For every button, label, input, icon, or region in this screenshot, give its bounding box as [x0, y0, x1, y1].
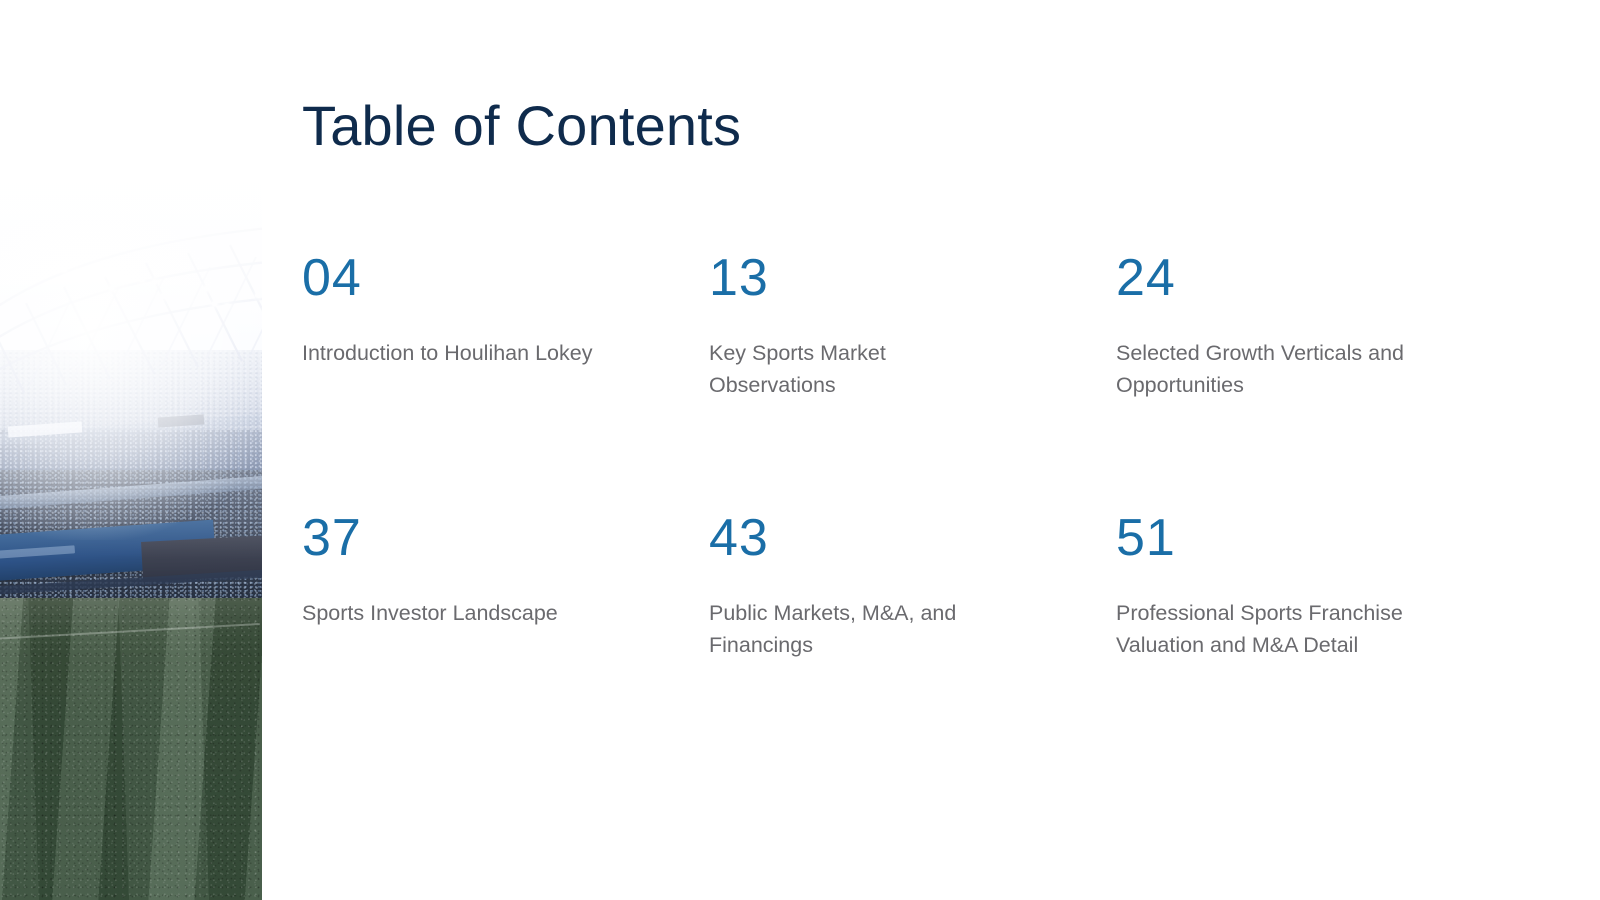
- stadium-photo-strip: [0, 0, 262, 900]
- toc-number: 43: [709, 512, 1116, 564]
- toc-label: Introduction to Houlihan Lokey: [302, 338, 602, 370]
- toc-label: Sports Investor Landscape: [302, 598, 602, 630]
- toc-entry-43[interactable]: 43 Public Markets, M&A, and Financings: [709, 512, 1116, 772]
- toc-entry-51[interactable]: 51 Professional Sports Franchise Valuati…: [1116, 512, 1523, 772]
- toc-number: 04: [302, 252, 709, 304]
- toc-label: Key Sports Market Observations: [709, 338, 1009, 401]
- toc-entry-24[interactable]: 24 Selected Growth Verticals and Opportu…: [1116, 252, 1523, 512]
- slide-content: Table of Contents 04 Introduction to Hou…: [262, 0, 1600, 900]
- grass-texture-noise: [0, 585, 262, 900]
- toc-number: 24: [1116, 252, 1523, 304]
- toc-entry-13[interactable]: 13 Key Sports Market Observations: [709, 252, 1116, 512]
- slide-root: Table of Contents 04 Introduction to Hou…: [0, 0, 1600, 900]
- toc-label: Selected Growth Verticals and Opportunit…: [1116, 338, 1416, 401]
- toc-label: Public Markets, M&A, and Financings: [709, 598, 1009, 661]
- toc-number: 51: [1116, 512, 1523, 564]
- page-title: Table of Contents: [302, 98, 741, 154]
- pitch-grass: [0, 585, 262, 900]
- toc-entry-37[interactable]: 37 Sports Investor Landscape: [302, 512, 709, 772]
- toc-label: Professional Sports Franchise Valuation …: [1116, 598, 1416, 661]
- toc-grid: 04 Introduction to Houlihan Lokey 13 Key…: [302, 252, 1570, 772]
- advertising-board-text: [0, 545, 75, 561]
- toc-number: 13: [709, 252, 1116, 304]
- toc-entry-04[interactable]: 04 Introduction to Houlihan Lokey: [302, 252, 709, 512]
- toc-number: 37: [302, 512, 709, 564]
